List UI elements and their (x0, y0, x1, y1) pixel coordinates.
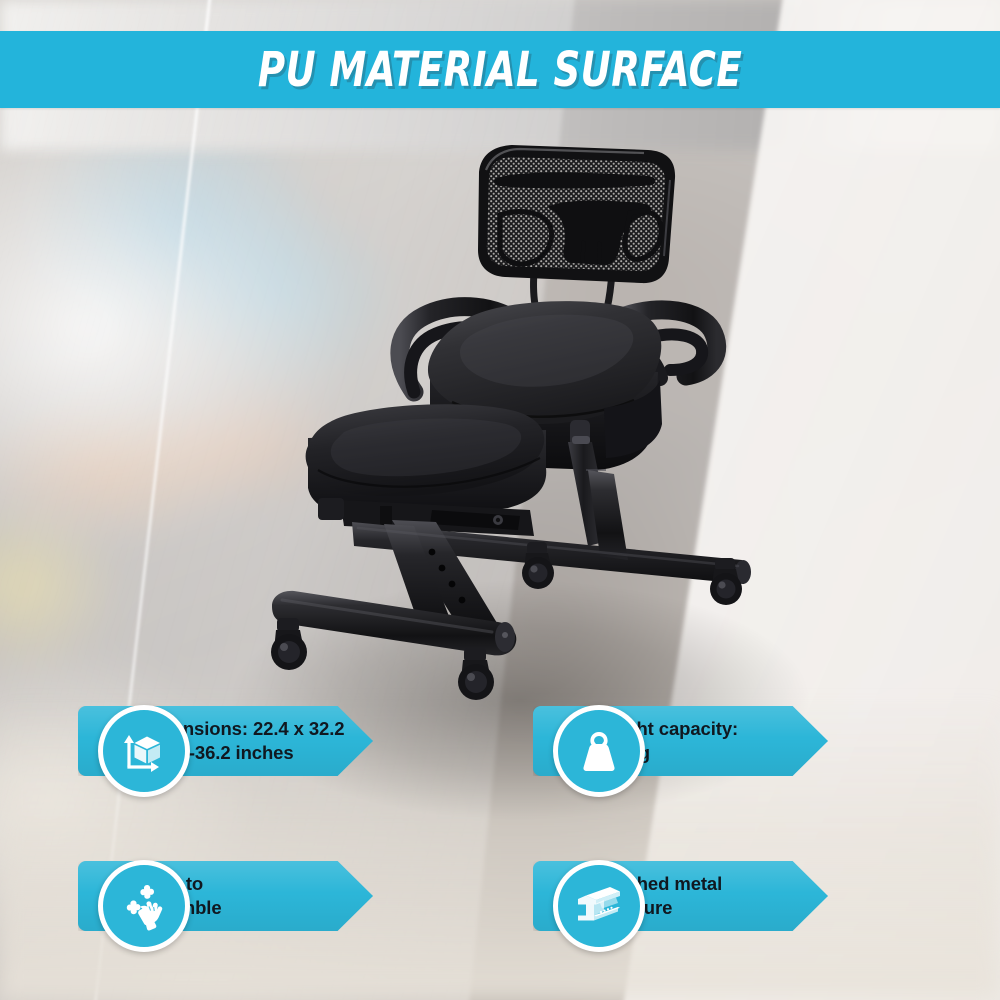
feature-badge-dimensions[interactable]: Dimensions: 22.4 x 32.2 x 32.2-36.2 inch… (98, 706, 373, 776)
box-dimensions-icon (98, 705, 190, 797)
feature-badge-polished-metal[interactable]: Polished metal structure (553, 861, 828, 931)
product-marketing-image: PU MATERIAL SURFACE Dimensions: 22.4 x 3… (0, 0, 1000, 1000)
hand-puzzle-icon (98, 860, 190, 952)
feature-badge-easy-assembly[interactable]: Easy to assemble (98, 861, 373, 931)
i-beam-icon (553, 860, 645, 952)
feature-badge-weight-capacity[interactable]: Weight capacity: 100 kg (553, 706, 828, 776)
feature-badge-group: Dimensions: 22.4 x 32.2 x 32.2-36.2 inch… (0, 0, 1000, 1000)
weight-icon (553, 705, 645, 797)
